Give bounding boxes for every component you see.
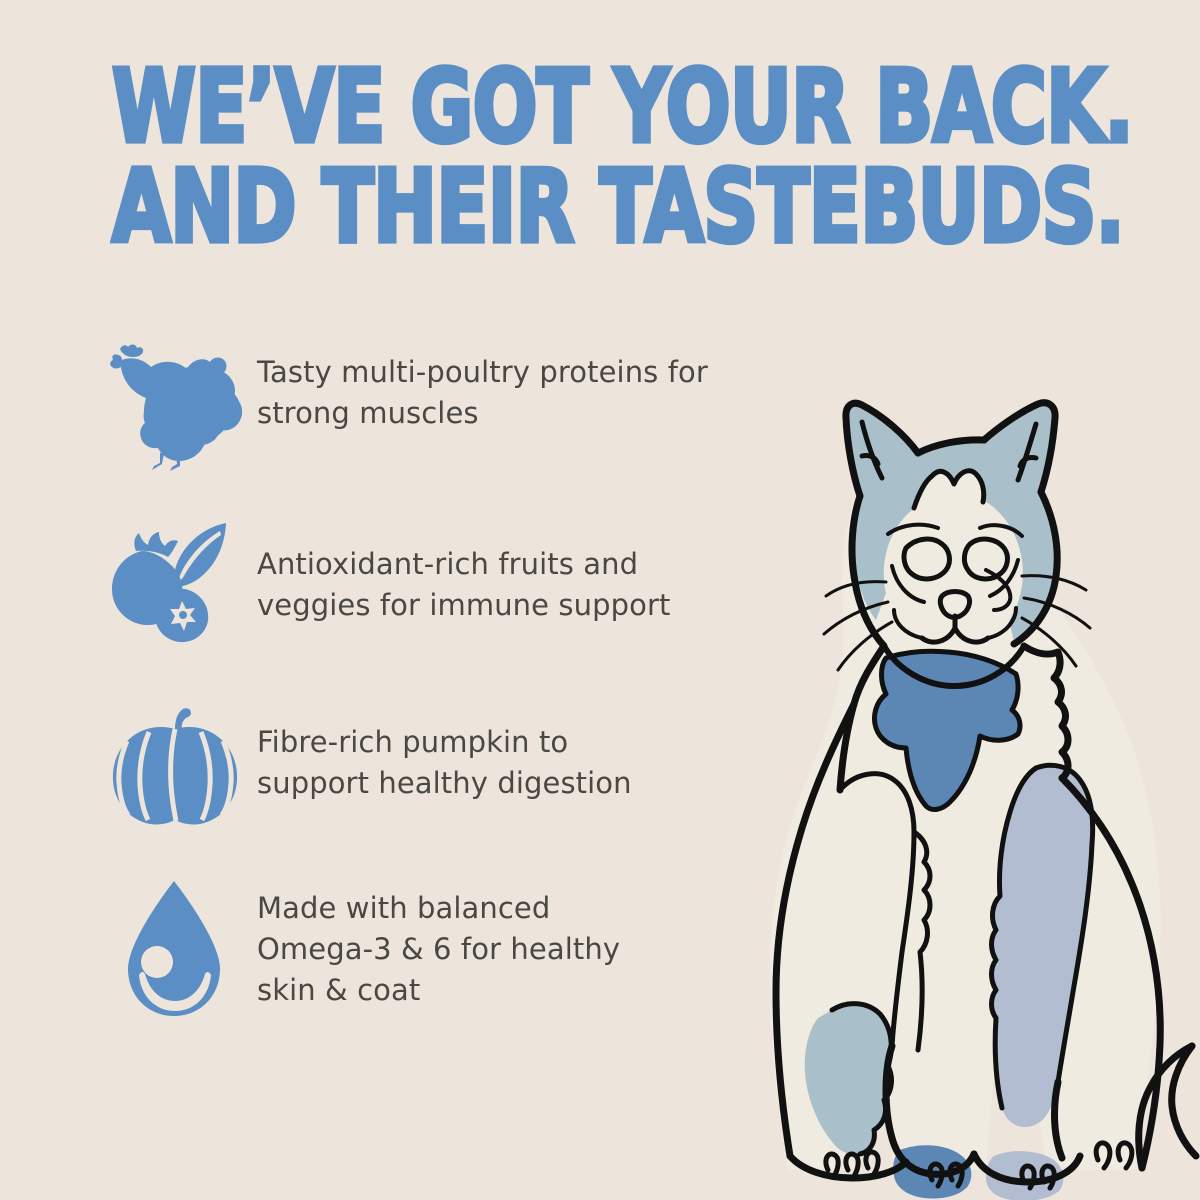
poultry-icon <box>92 328 257 478</box>
feature-item-pumpkin: Fibre-rich pumpkin to support healthy di… <box>92 692 752 874</box>
headline: WE’VE GOT YOUR BACK. AND THEIR TASTEBUDS… <box>112 58 1122 233</box>
feature-text: Tasty multi-poultry proteins for strong … <box>257 328 752 434</box>
feature-text: Fibre-rich pumpkin to support healthy di… <box>257 692 752 804</box>
feature-item-berries: Antioxidant-rich fruits and veggies for … <box>92 510 752 692</box>
droplet-icon <box>92 874 257 1024</box>
feature-item-poultry: Tasty multi-poultry proteins for strong … <box>92 328 752 510</box>
pumpkin-icon <box>92 692 257 842</box>
feature-text: Made with balanced Omega-3 & 6 for healt… <box>257 874 752 1012</box>
feature-list: Tasty multi-poultry proteins for strong … <box>92 328 752 1056</box>
berries-icon <box>92 510 257 660</box>
feature-item-omega: Made with balanced Omega-3 & 6 for healt… <box>92 874 752 1056</box>
poster-canvas: WE’VE GOT YOUR BACK. AND THEIR TASTEBUDS… <box>0 0 1200 1200</box>
cat-illustration <box>736 370 1200 1200</box>
headline-line-2: AND THEIR TASTEBUDS. <box>112 158 1122 256</box>
feature-text: Antioxidant-rich fruits and veggies for … <box>257 510 752 626</box>
headline-line-1: WE’VE GOT YOUR BACK. <box>112 58 1122 156</box>
